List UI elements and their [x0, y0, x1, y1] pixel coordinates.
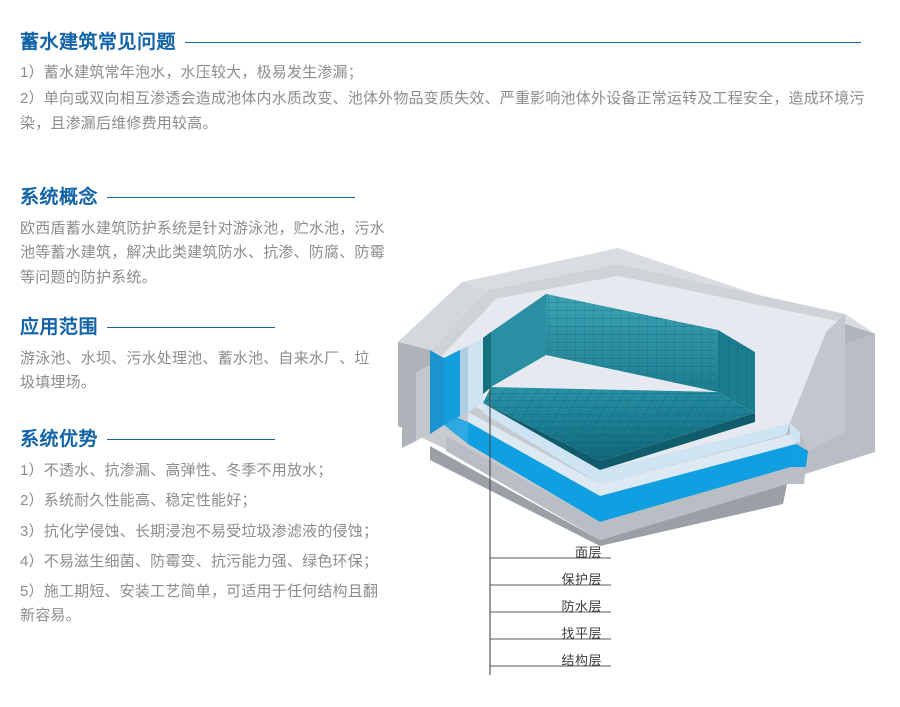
- paragraph: 1）蓄水建筑常年泡水，水压较大，极易发生渗漏；: [20, 61, 880, 85]
- section-rule-advantages: [107, 439, 275, 440]
- layer-label-surface: 面层: [482, 542, 602, 561]
- section-rule-problems: [185, 42, 861, 43]
- page-content: 蓄水建筑常见问题 1）蓄水建筑常年泡水，水压较大，极易发生渗漏； 2）单向或双向…: [0, 0, 900, 707]
- paragraph: 4）不易滋生细菌、防霉变、抗污能力强、绿色环保；: [20, 550, 380, 574]
- paragraph: 2）单向或双向相互渗透会造成池体内水质改变、池体外物品变质失效、严重影响池体外设…: [20, 87, 880, 136]
- layer-label-leveling: 找平层: [482, 623, 602, 642]
- layer-label-protection: 保护层: [482, 569, 602, 588]
- layer-callout: 面层 保护层 防水层 找平层 结构层: [386, 380, 646, 700]
- section-title-concept: 系统概念: [20, 188, 98, 207]
- paragraph: 1）不透水、抗渗漏、高弹性、冬季不用放水；: [20, 459, 380, 483]
- section-problems: 蓄水建筑常见问题 1）蓄水建筑常年泡水，水压较大，极易发生渗漏； 2）单向或双向…: [20, 33, 882, 138]
- paragraph: 3）抗化学侵蚀、长期浸泡不易受垃圾渗滤液的侵蚀；: [20, 520, 380, 544]
- paragraph: 游泳池、水坝、污水处理池、蓄水池、自来水厂、垃圾填埋场。: [20, 347, 370, 396]
- section-rule-concept: [107, 197, 355, 198]
- section-header-concept: 系统概念: [20, 188, 450, 207]
- paragraph: 2）系统耐久性能高、稳定性能好；: [20, 489, 380, 513]
- section-header-advantages: 系统优势: [20, 430, 400, 449]
- section-body-advantages: 1）不透水、抗渗漏、高弹性、冬季不用放水； 2）系统耐久性能高、稳定性能好； 3…: [20, 459, 380, 629]
- section-title-problems: 蓄水建筑常见问题: [20, 33, 176, 52]
- section-body-scope: 游泳池、水坝、污水处理池、蓄水池、自来水厂、垃圾填埋场。: [20, 347, 370, 396]
- section-scope: 应用范围 游泳池、水坝、污水处理池、蓄水池、自来水厂、垃圾填埋场。: [20, 318, 400, 398]
- section-rule-scope: [107, 327, 275, 328]
- paragraph: 5）施工期短、安装工艺简单，可适用于任何结构且翻新容易。: [20, 580, 380, 629]
- paragraph: 欧西盾蓄水建筑防护系统是针对游泳池，贮水池，污水池等蓄水建筑，解决此类建筑防水、…: [20, 217, 390, 290]
- section-title-scope: 应用范围: [20, 318, 98, 337]
- layer-label-structure: 结构层: [482, 650, 602, 669]
- section-title-advantages: 系统优势: [20, 430, 98, 449]
- layer-label-waterproof: 防水层: [482, 596, 602, 615]
- section-header-problems: 蓄水建筑常见问题: [20, 33, 882, 52]
- section-body-concept: 欧西盾蓄水建筑防护系统是针对游泳池，贮水池，污水池等蓄水建筑，解决此类建筑防水、…: [20, 217, 390, 290]
- section-body-problems: 1）蓄水建筑常年泡水，水压较大，极易发生渗漏； 2）单向或双向相互渗透会造成池体…: [20, 61, 880, 136]
- section-advantages: 系统优势 1）不透水、抗渗漏、高弹性、冬季不用放水； 2）系统耐久性能高、稳定性…: [20, 430, 400, 635]
- section-header-scope: 应用范围: [20, 318, 400, 337]
